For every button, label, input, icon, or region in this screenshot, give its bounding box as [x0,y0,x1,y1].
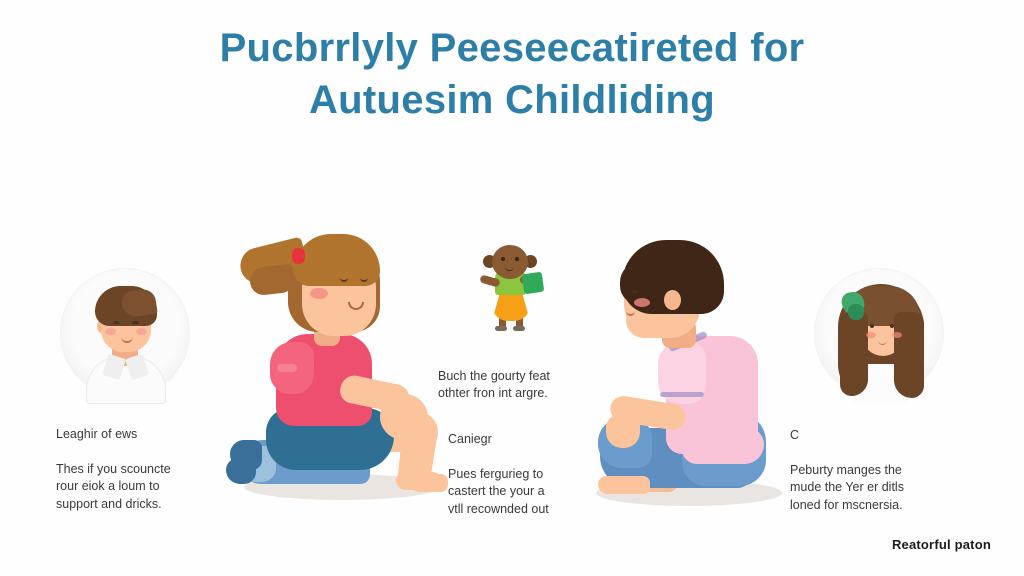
boy-blush-right [136,328,147,335]
child-eye-right [515,257,519,261]
child-held-object [522,272,545,295]
footer-note: Reatorful paton [892,537,991,552]
boy-eye-left [113,321,120,324]
caption-middle-lower: Caniegr Pues fergurieg to castert the yo… [448,413,613,536]
figure-girl-sitting [232,222,452,512]
girl-foot [396,472,440,490]
girl2-eye-right [890,324,894,328]
caption-middle-upper: Buch the gourty feat othter fron int arg… [438,350,608,420]
caption-left: Leaghir of ews Thes if you scouncte rour… [56,408,231,531]
caption-right-body: Peburty manges the mude the Yer er ditls… [790,462,970,515]
poster-canvas: Pucbrrlyly Peeseecatireted for Autuesim … [0,0,1024,576]
child-eye-left [501,257,505,261]
caption-middle-upper-body: Buch the gourty feat othter fron int arg… [438,368,608,403]
girl-sleeve-highlight [277,364,297,372]
child-shoe-right [513,326,525,331]
boy-blush-left [105,328,116,335]
page-title: Pucbrrlyly Peeseecatireted for Autuesim … [0,22,1024,126]
girl2-hair-lock-left [840,312,868,396]
child-skirt [492,291,530,321]
caption-right-heading: C [790,427,970,445]
figure-child-small [468,243,552,331]
figure-portrait-girl [814,268,944,398]
boy-sleeve-trim [660,392,704,397]
girl2-blush-left [866,332,876,338]
child-head [492,245,528,279]
girl-hair-tie [292,248,305,264]
boy-ear-2 [664,290,681,310]
title-line-2: Autuesim Childliding [0,74,1024,126]
title-line-1: Pucbrrlyly Peeseecatireted for [0,22,1024,74]
caption-middle-lower-body: Pues fergurieg to castert the your a vtl… [448,466,613,519]
boy-eye-right [132,321,139,324]
girl2-eye-left [870,324,874,328]
boy-blush [634,298,650,307]
figure-boy-sitting [586,232,786,510]
caption-left-heading: Leaghir of ews [56,426,231,444]
caption-left-body: Thes if you scouncte rour eiok a loum to… [56,461,231,514]
girl2-hair-lock-right [894,312,924,398]
child-shoe-left [495,326,507,331]
girl-hand [384,398,418,428]
girl-blush [310,288,328,299]
girl2-blush-right [892,332,902,338]
figure-portrait-boy [60,268,190,398]
caption-middle-lower-heading: Caniegr [448,431,613,449]
caption-right: C Peburty manges the mude the Yer er dit… [790,409,970,532]
